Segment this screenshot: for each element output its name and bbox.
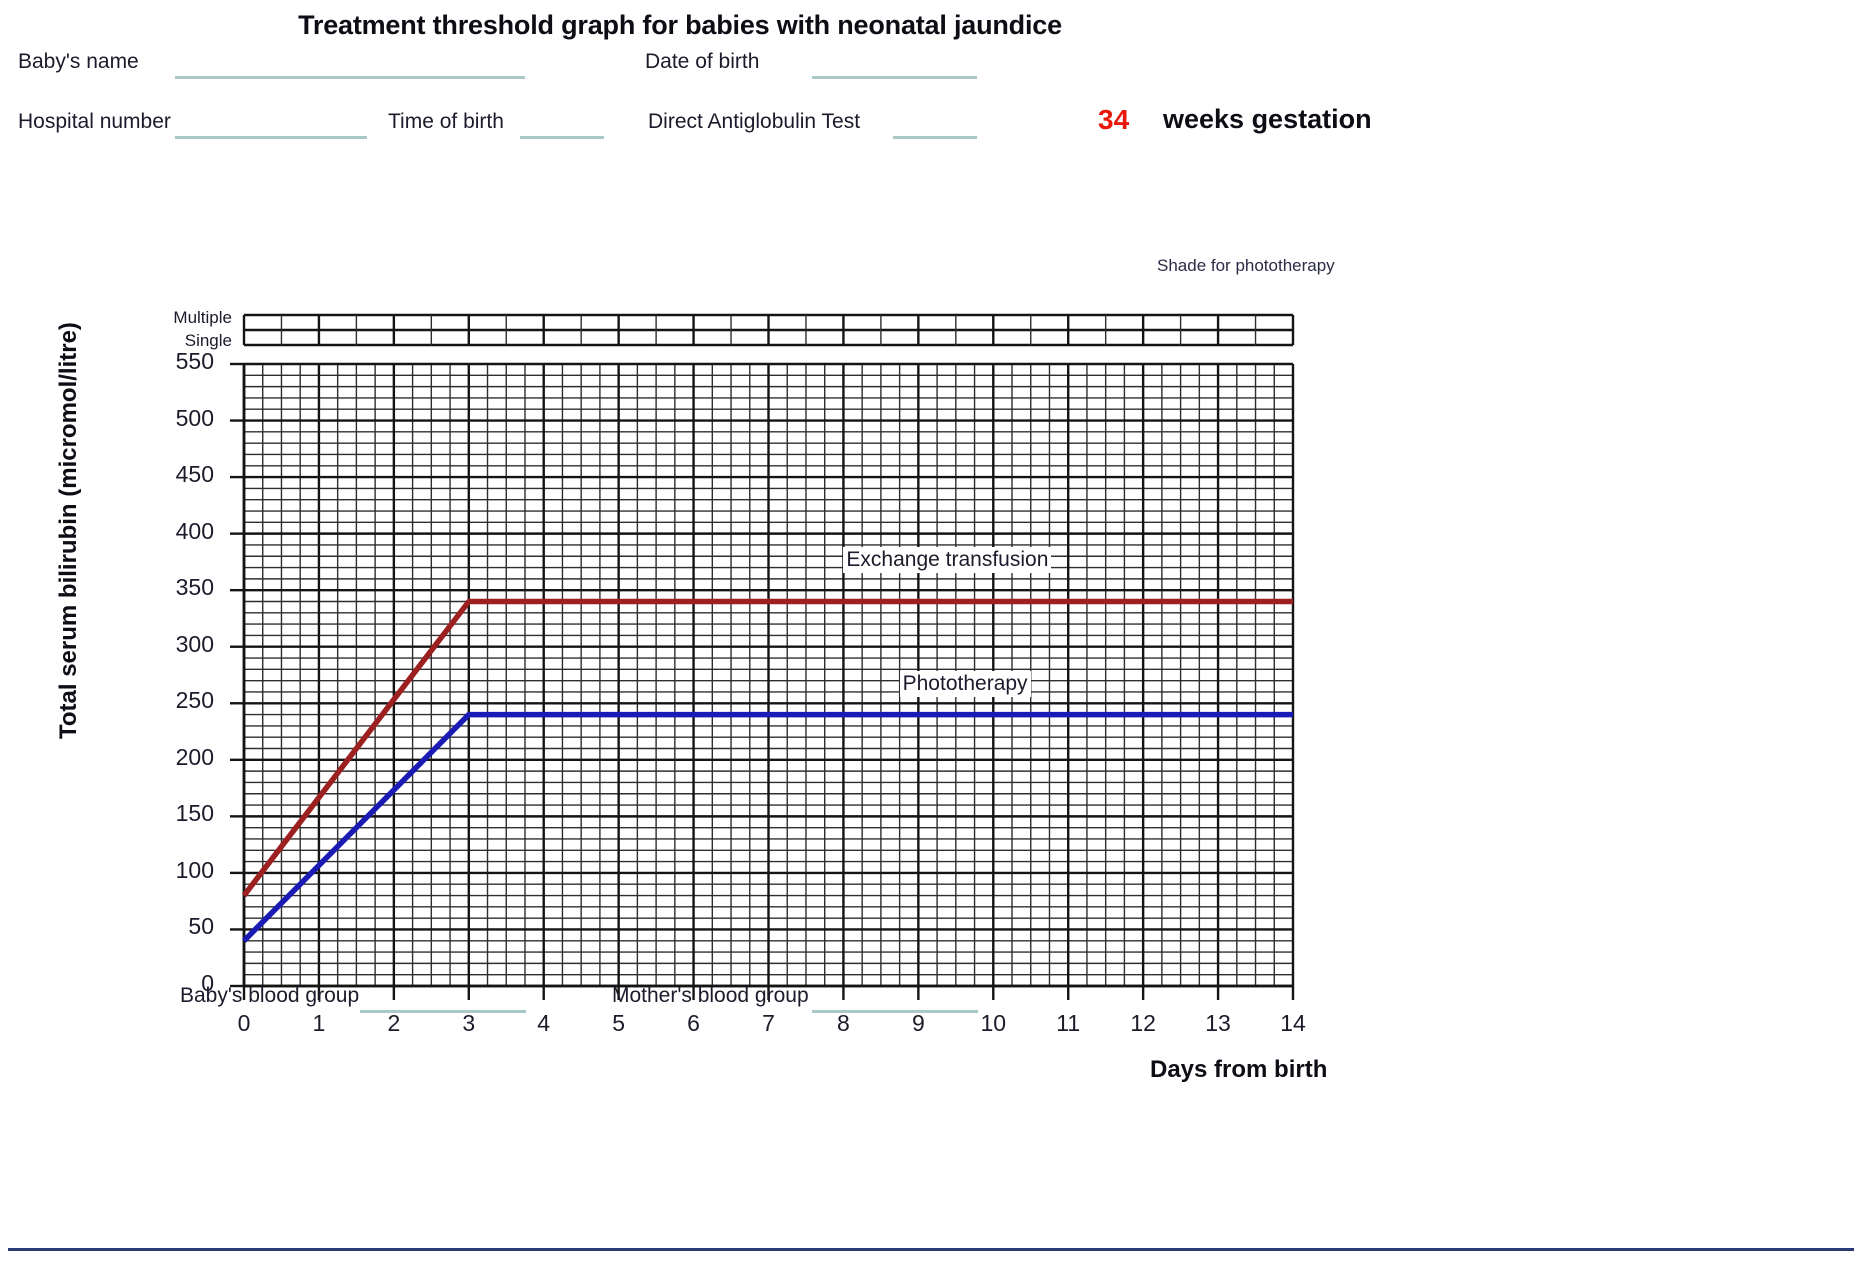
- input-babys-blood-group[interactable]: [360, 1010, 526, 1013]
- x-tick-2: 2: [364, 1010, 424, 1037]
- x-tick-14: 14: [1263, 1010, 1323, 1037]
- toprow-label-single: Single: [112, 331, 232, 351]
- input-mothers-blood-group[interactable]: [812, 1010, 978, 1013]
- x-tick-13: 13: [1188, 1010, 1248, 1037]
- x-tick-9: 9: [888, 1010, 948, 1037]
- x-axis-title: Days from birth: [1150, 1056, 1327, 1084]
- x-tick-6: 6: [664, 1010, 724, 1037]
- y-axis-title: Total serum bilirubin (micromol/litre): [55, 409, 83, 739]
- x-tick-8: 8: [813, 1010, 873, 1037]
- phototherapy-shading-bar: [244, 315, 1293, 345]
- y-tick-300: 300: [144, 631, 214, 658]
- x-tick-10: 10: [963, 1010, 1023, 1037]
- toprow-label-multiple: Multiple: [112, 308, 232, 328]
- y-tick-50: 50: [144, 913, 214, 940]
- treatment-threshold-chart: Shade for phototherapy 05010015020025030…: [0, 0, 1862, 1262]
- x-tick-4: 4: [514, 1010, 574, 1037]
- grid-major-lines: [244, 364, 1293, 986]
- x-tick-5: 5: [589, 1010, 649, 1037]
- annotation-phototherapy: Phototherapy: [900, 671, 1031, 697]
- plot-area: [0, 0, 1862, 1262]
- y-tick-150: 150: [144, 800, 214, 827]
- x-tick-3: 3: [439, 1010, 499, 1037]
- y-tick-350: 350: [144, 574, 214, 601]
- y-tick-450: 450: [144, 461, 214, 488]
- y-tick-500: 500: [144, 405, 214, 432]
- y-tick-200: 200: [144, 744, 214, 771]
- label-mothers-blood-group: Mother's blood group: [612, 984, 809, 1008]
- label-babys-blood-group: Baby's blood group: [180, 984, 359, 1008]
- footer-divider: [8, 1248, 1854, 1251]
- x-tick-11: 11: [1038, 1010, 1098, 1037]
- x-tick-1: 1: [289, 1010, 349, 1037]
- y-tick-400: 400: [144, 518, 214, 545]
- axis-tick-marks: [230, 364, 1293, 1000]
- annotation-exchange-transfusion: Exchange transfusion: [843, 547, 1051, 573]
- y-tick-550: 550: [144, 348, 214, 375]
- x-tick-0: 0: [214, 1010, 274, 1037]
- y-tick-100: 100: [144, 857, 214, 884]
- x-tick-12: 12: [1113, 1010, 1173, 1037]
- x-tick-7: 7: [739, 1010, 799, 1037]
- y-tick-250: 250: [144, 687, 214, 714]
